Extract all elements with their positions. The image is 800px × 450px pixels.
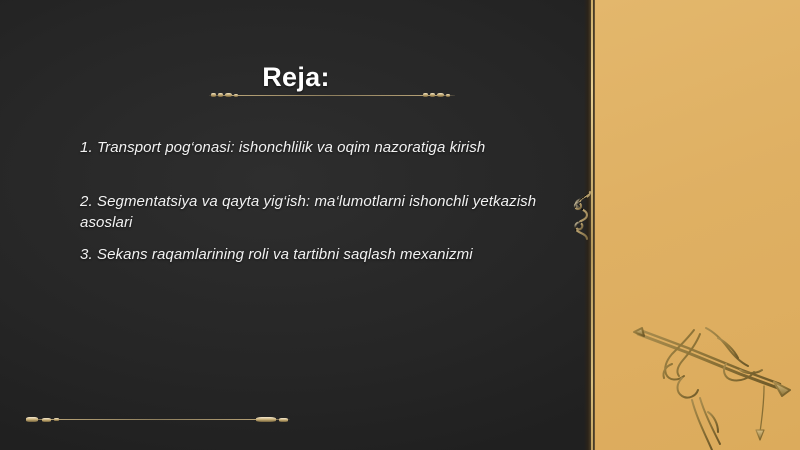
title-divider (209, 93, 455, 99)
divider-left-ornament-icon (211, 93, 241, 98)
hand-holding-pen-icon (622, 312, 800, 450)
divider-left-ornament-icon (26, 417, 38, 422)
divider-line (26, 419, 290, 420)
divider-left-ornament-icon (54, 418, 59, 421)
divider-left-ornament-icon (42, 418, 51, 422)
divider-line (209, 95, 455, 96)
presentation-slide: Reja: 1. Transport pog‘onasi: ishonchlil… (0, 0, 800, 450)
agenda-list: 1. Transport pog‘onasi: ishonchlilik va … (80, 138, 550, 265)
list-item: 1. Transport pog‘onasi: ishonchlilik va … (80, 138, 550, 158)
list-item: 3. Sekans raqamlarining roli va tartibni… (80, 245, 550, 265)
divider-right-ornament-icon (423, 93, 453, 98)
list-item: 2. Segmentatsiya va qayta yig‘ish: ma‘lu… (80, 192, 550, 233)
scroll-flourish-icon (570, 186, 596, 246)
page-title: Reja: (0, 62, 592, 93)
divider-right-ornament-icon (256, 417, 276, 422)
divider-right-ornament-icon (279, 418, 288, 422)
bottom-divider (26, 417, 290, 423)
